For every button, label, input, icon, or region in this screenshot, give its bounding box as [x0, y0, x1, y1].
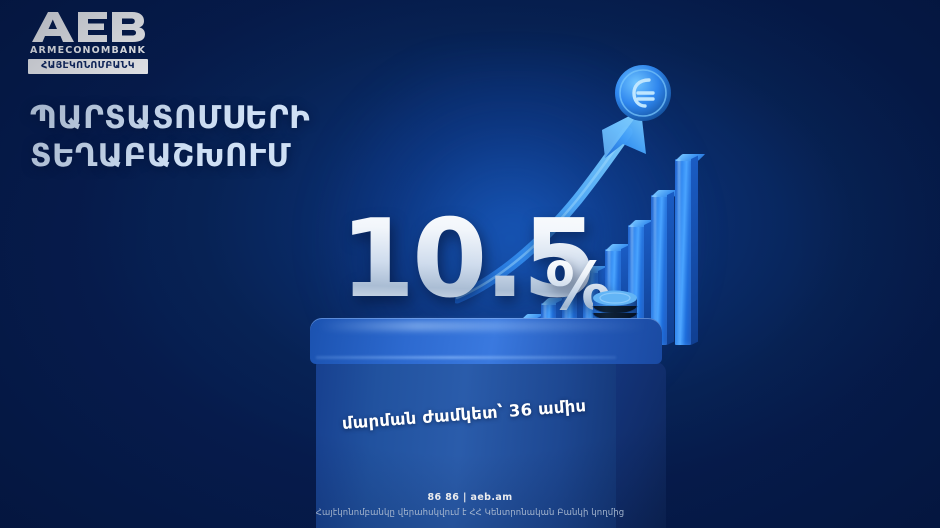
regulatory-disclaimer: Հայէկոնոմբանկը վերահսկվում է ՀՀ Կենտրոնա…	[0, 508, 940, 518]
headline-line-1: ՊԱՐՏԱՏՈՄՍԵՐԻ	[30, 100, 370, 138]
logo-wordmark: ARMECONOMBANK	[28, 45, 148, 56]
headline: ՊԱՐՏԱՏՈՄՍԵՐԻ ՏԵՂԱԲԱՇԽՈՒՄ	[30, 100, 370, 176]
pedestal-edge	[316, 356, 616, 359]
logo-armenian-text: ՀԱՅԷԿՈՆՈՄԲԱՆԿ	[32, 61, 144, 71]
bond-placement-banner: ARMECONOMBANK ՀԱՅԷԿՈՆՈՄԲԱՆԿ ՊԱՐՏԱՏՈՄՍԵՐԻ…	[0, 0, 940, 528]
pedestal-highlight	[318, 321, 648, 331]
logo-armenian-box: ՀԱՅԷԿՈՆՈՄԲԱՆԿ	[28, 59, 148, 74]
footer: 86 86 | aeb.am Հայէկոնոմբանկը վերահսկվու…	[0, 492, 940, 518]
dram-coin-icon	[612, 62, 674, 124]
growth-arrow-icon	[455, 108, 680, 308]
aeb-logo[interactable]: ARMECONOMBANK ՀԱՅԷԿՈՆՈՄԲԱՆԿ	[28, 10, 148, 74]
aeb-logo-mark	[28, 10, 148, 44]
headline-line-2: ՏԵՂԱԲԱՇԽՈՒՄ	[30, 138, 370, 176]
contact-line[interactable]: 86 86 | aeb.am	[0, 492, 940, 503]
maturity-label: մարման ժամկետ՝ 36 ամիս	[341, 394, 612, 433]
